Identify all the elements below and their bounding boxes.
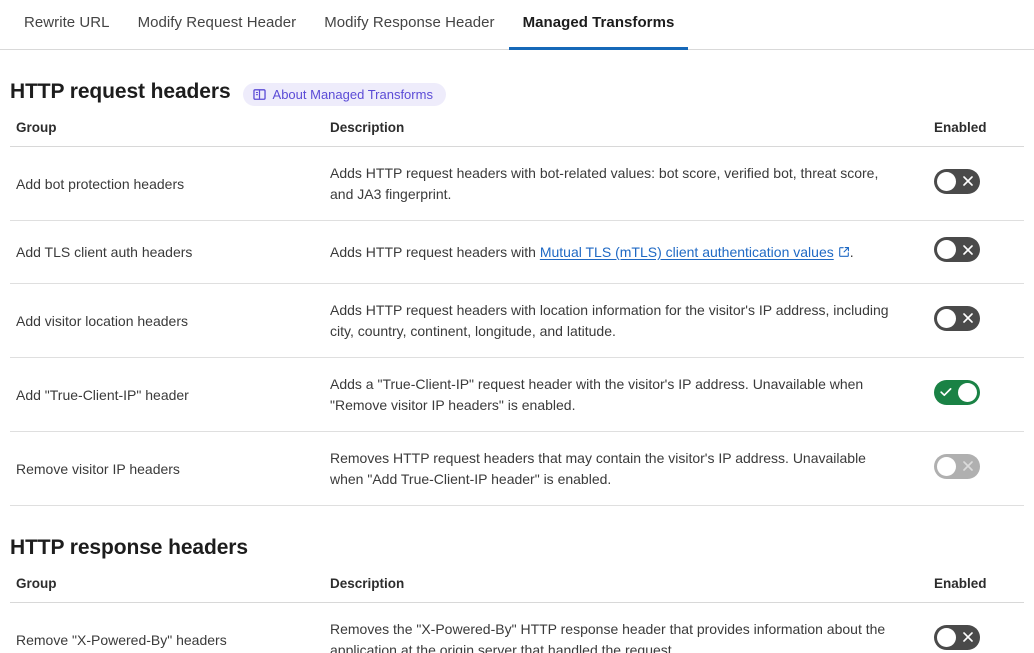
- column-header-description: Description: [320, 120, 920, 147]
- tab-bar: Rewrite URL Modify Request Header Modify…: [0, 0, 1034, 50]
- toggle-knob: [937, 628, 956, 647]
- section-http-request-headers: HTTP request headers About Managed Trans…: [0, 80, 1034, 506]
- section-http-response-headers: HTTP response headers Group Description …: [0, 536, 1034, 653]
- row-enabled-cell: [920, 284, 1024, 358]
- row-enabled-cell: [920, 358, 1024, 432]
- row-description: Adds HTTP request headers with bot-relat…: [320, 147, 920, 221]
- table-header-row: Group Description Enabled: [10, 120, 1024, 147]
- toggle-add-true-client-ip-header[interactable]: [934, 380, 980, 405]
- row-enabled-cell: [920, 147, 1024, 221]
- tab-modify-request-header[interactable]: Modify Request Header: [124, 0, 311, 50]
- cross-icon: [956, 625, 980, 650]
- table-row: Add "True-Client-IP" header Adds a "True…: [10, 358, 1024, 432]
- toggle-knob: [958, 383, 977, 402]
- toggle-knob: [937, 309, 956, 328]
- mutual-tls-link[interactable]: Mutual TLS (mTLS) client authentication …: [540, 244, 834, 260]
- row-description: Removes HTTP request headers that may co…: [320, 432, 920, 506]
- request-headers-table: Group Description Enabled Add bot protec…: [10, 120, 1024, 506]
- description-text-after: .: [850, 244, 854, 260]
- section-header: HTTP response headers: [10, 536, 1024, 560]
- row-group-label: Remove "X-Powered-By" headers: [10, 603, 320, 653]
- cross-icon: [956, 169, 980, 194]
- toggle-remove-visitor-ip-headers: [934, 454, 980, 479]
- table-row: Add TLS client auth headers Adds HTTP re…: [10, 221, 1024, 284]
- row-group-label: Add visitor location headers: [10, 284, 320, 358]
- row-group-label: Add TLS client auth headers: [10, 221, 320, 284]
- tab-managed-transforms[interactable]: Managed Transforms: [509, 0, 689, 50]
- description-text-before: Adds HTTP request headers with: [330, 244, 540, 260]
- row-description: Removes the "X-Powered-By" HTTP response…: [320, 603, 920, 653]
- cross-icon: [956, 454, 980, 479]
- toggle-knob: [937, 240, 956, 259]
- page-title-request-headers: HTTP request headers: [10, 80, 231, 104]
- row-description: Adds HTTP request headers with location …: [320, 284, 920, 358]
- column-header-enabled: Enabled: [920, 576, 1024, 603]
- about-managed-transforms-link[interactable]: About Managed Transforms: [243, 83, 446, 106]
- table-header-row: Group Description Enabled: [10, 576, 1024, 603]
- row-group-label: Add bot protection headers: [10, 147, 320, 221]
- row-description: Adds HTTP request headers with Mutual TL…: [320, 221, 920, 284]
- cross-icon: [956, 237, 980, 262]
- row-description: Adds a "True-Client-IP" request header w…: [320, 358, 920, 432]
- row-enabled-cell: [920, 603, 1024, 653]
- toggle-remove-x-powered-by-headers[interactable]: [934, 625, 980, 650]
- toggle-knob: [937, 172, 956, 191]
- column-header-group: Group: [10, 576, 320, 603]
- tab-rewrite-url[interactable]: Rewrite URL: [10, 0, 124, 50]
- toggle-add-tls-client-auth-headers[interactable]: [934, 237, 980, 262]
- cross-icon: [956, 306, 980, 331]
- column-header-enabled: Enabled: [920, 120, 1024, 147]
- row-enabled-cell: [920, 221, 1024, 284]
- table-row: Remove "X-Powered-By" headers Removes th…: [10, 603, 1024, 653]
- table-row: Add visitor location headers Adds HTTP r…: [10, 284, 1024, 358]
- toggle-add-visitor-location-headers[interactable]: [934, 306, 980, 331]
- toggle-add-bot-protection-headers[interactable]: [934, 169, 980, 194]
- row-group-label: Add "True-Client-IP" header: [10, 358, 320, 432]
- external-link-icon: [838, 243, 850, 264]
- about-pill-label: About Managed Transforms: [273, 87, 433, 102]
- column-header-description: Description: [320, 576, 920, 603]
- tab-modify-response-header[interactable]: Modify Response Header: [310, 0, 508, 50]
- table-row: Remove visitor IP headers Removes HTTP r…: [10, 432, 1024, 506]
- row-enabled-cell: [920, 432, 1024, 506]
- toggle-knob: [937, 457, 956, 476]
- section-header: HTTP request headers About Managed Trans…: [10, 80, 1024, 104]
- page-title-response-headers: HTTP response headers: [10, 536, 248, 560]
- book-icon: [253, 88, 266, 101]
- row-group-label: Remove visitor IP headers: [10, 432, 320, 506]
- response-headers-table: Group Description Enabled Remove "X-Powe…: [10, 576, 1024, 653]
- check-icon: [934, 380, 958, 405]
- table-row: Add bot protection headers Adds HTTP req…: [10, 147, 1024, 221]
- column-header-group: Group: [10, 120, 320, 147]
